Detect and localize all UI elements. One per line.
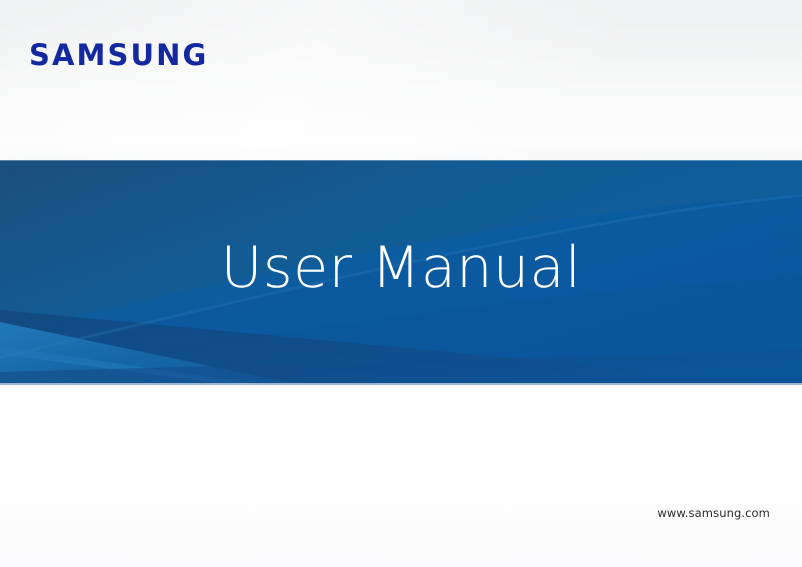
hero-banner: User Manual — [0, 160, 802, 385]
header-sheen-overlay — [0, 0, 802, 160]
banner-top-divider — [0, 160, 802, 161]
page-footer — [0, 385, 802, 567]
banner-abstract-artwork — [0, 160, 802, 385]
manual-cover-page: SAMSUNG — [0, 0, 802, 567]
page-header — [0, 0, 802, 160]
samsung-logo: SAMSUNG — [29, 41, 208, 70]
website-url[interactable]: www.samsung.com — [657, 508, 770, 520]
